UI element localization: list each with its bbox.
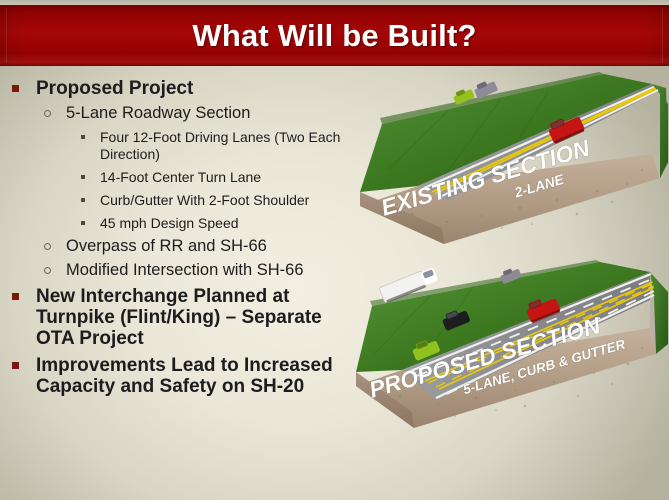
presentation-slide: What Will be Built? Proposed Project 5-L… xyxy=(0,0,669,500)
bullet-text: Curb/Gutter With 2-Foot Shoulder xyxy=(100,192,309,208)
bullet-text: Modified Intersection with SH-66 xyxy=(66,261,304,279)
bullet-text: New Interchange Planned at Turnpike (Fli… xyxy=(36,286,360,349)
bullet-item-center-turn-lane: 14-Foot Center Turn Lane xyxy=(0,169,360,186)
bullet-item-curb-gutter: Curb/Gutter With 2-Foot Shoulder xyxy=(0,192,360,209)
bullet-item-5-lane-roadway-section: 5-Lane Roadway Section xyxy=(0,104,360,123)
bullet-item-driving-lanes: Four 12-Foot Driving Lanes (Two Each Dir… xyxy=(0,129,360,163)
bullet-list: Proposed Project 5-Lane Roadway Section … xyxy=(0,72,360,397)
bullet-item-proposed-project: Proposed Project xyxy=(0,78,360,99)
bullet-item-improvements: Improvements Lead to Increased Capacity … xyxy=(0,355,360,397)
bullet-text: Improvements Lead to Increased Capacity … xyxy=(36,355,360,397)
circle-bullet-icon xyxy=(44,267,51,274)
slide-title-banner: What Will be Built? xyxy=(0,5,669,66)
bullet-item-new-interchange: New Interchange Planned at Turnpike (Fli… xyxy=(0,286,360,349)
dot-bullet-icon xyxy=(81,175,85,179)
square-bullet-icon xyxy=(12,293,19,300)
bullet-text: 45 mph Design Speed xyxy=(100,215,239,231)
bullet-text: Overpass of RR and SH-66 xyxy=(66,237,267,255)
square-bullet-icon xyxy=(12,362,19,369)
bullet-text: Proposed Project xyxy=(36,78,360,99)
circle-bullet-icon xyxy=(44,110,51,117)
dot-bullet-icon xyxy=(81,221,85,225)
proposed-section-illustration: PROPOSED SECTION 5-LANE, CURB & GUTTER xyxy=(350,258,669,448)
bullet-item-overpass: Overpass of RR and SH-66 xyxy=(0,237,360,256)
bullet-text: 14-Foot Center Turn Lane xyxy=(100,169,261,185)
bullet-item-modified-intersection: Modified Intersection with SH-66 xyxy=(0,261,360,280)
bullet-item-design-speed: 45 mph Design Speed xyxy=(0,215,360,232)
bullet-text: Four 12-Foot Driving Lanes (Two Each Dir… xyxy=(100,129,340,162)
bullet-text: 5-Lane Roadway Section xyxy=(66,104,250,122)
dot-bullet-icon xyxy=(81,198,85,202)
page-title: What Will be Built? xyxy=(192,18,476,54)
square-bullet-icon xyxy=(12,85,19,92)
existing-section-illustration: EXISTING SECTION 2-LANE xyxy=(352,66,669,256)
bullet-level-1-list: Proposed Project 5-Lane Roadway Section … xyxy=(0,78,360,397)
circle-bullet-icon xyxy=(44,243,51,250)
dot-bullet-icon xyxy=(81,135,85,139)
